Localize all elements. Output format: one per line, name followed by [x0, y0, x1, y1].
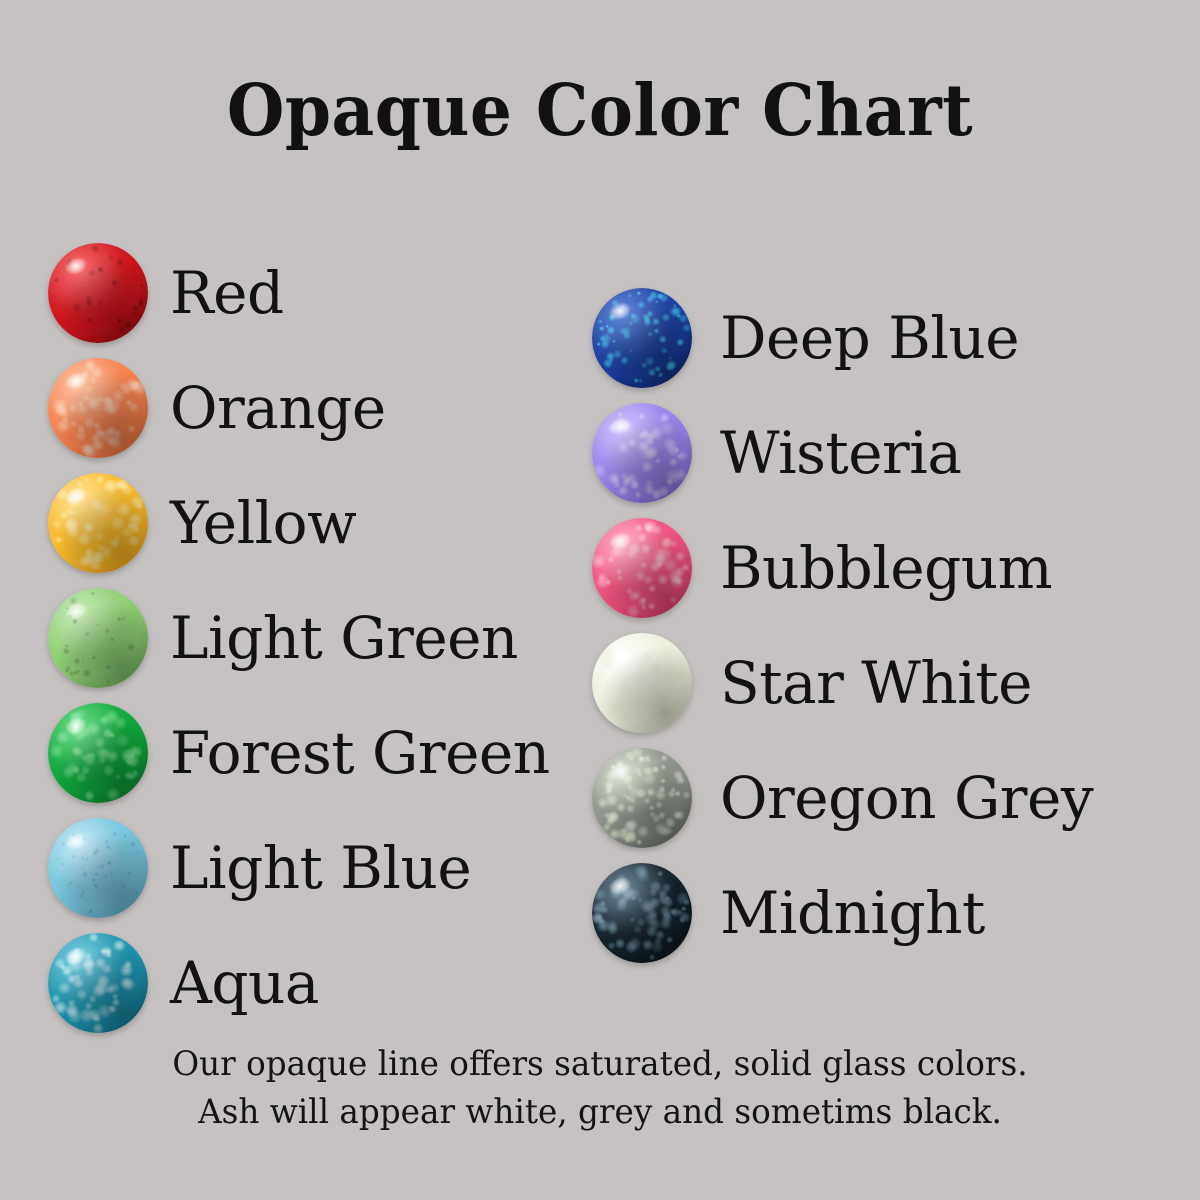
marble-swatch-oregon-grey[interactable]: [592, 748, 692, 848]
marble-shading: [48, 933, 148, 1033]
footer-line-1: Our opaque line offers saturated, solid …: [24, 1040, 1176, 1088]
glass-marble-icon: [592, 863, 692, 963]
glass-marble-icon: [592, 633, 692, 733]
page-title: Opaque Color Chart: [42, 68, 1158, 152]
swatch-row[interactable]: Orange: [48, 350, 550, 465]
marble-swatch-bubblegum[interactable]: [592, 518, 692, 618]
glass-marble-icon: [48, 588, 148, 688]
glass-marble-icon: [48, 243, 148, 343]
marble-shading: [48, 703, 148, 803]
swatch-row[interactable]: Deep Blue: [592, 280, 1093, 395]
swatch-row[interactable]: Red: [48, 235, 550, 350]
swatch-row[interactable]: Wisteria: [592, 395, 1093, 510]
swatch-label: Light Green: [170, 609, 518, 667]
swatch-label: Yellow: [170, 494, 356, 552]
marble-swatch-yellow[interactable]: [48, 473, 148, 573]
swatch-label: Oregon Grey: [720, 769, 1093, 827]
marble-shading: [48, 473, 148, 573]
marble-swatch-red[interactable]: [48, 243, 148, 343]
swatch-row[interactable]: Oregon Grey: [592, 740, 1093, 855]
swatch-label: Orange: [170, 379, 386, 437]
swatch-label: Deep Blue: [720, 309, 1019, 367]
marble-shading: [48, 358, 148, 458]
marble-shading: [48, 243, 148, 343]
marble-shading: [592, 633, 692, 733]
glass-marble-icon: [48, 818, 148, 918]
glass-marble-icon: [48, 473, 148, 573]
marble-swatch-wisteria[interactable]: [592, 403, 692, 503]
footer-note: Our opaque line offers saturated, solid …: [24, 1040, 1176, 1136]
marble-shading: [592, 518, 692, 618]
color-chart-page: Opaque Color Chart RedOrangeYellowLight …: [0, 0, 1200, 1200]
marble-shading: [592, 863, 692, 963]
glass-marble-icon: [48, 703, 148, 803]
swatch-label: Aqua: [170, 954, 319, 1012]
swatch-row[interactable]: Forest Green: [48, 695, 550, 810]
swatch-label: Light Blue: [170, 839, 471, 897]
swatch-row[interactable]: Aqua: [48, 925, 550, 1040]
swatch-column-right: Deep BlueWisteriaBubblegumStar WhiteOreg…: [592, 280, 1093, 970]
marble-swatch-light-blue[interactable]: [48, 818, 148, 918]
swatch-label: Wisteria: [720, 424, 961, 482]
glass-marble-icon: [592, 403, 692, 503]
swatch-row[interactable]: Star White: [592, 625, 1093, 740]
footer-line-2: Ash will appear white, grey and sometims…: [24, 1088, 1176, 1136]
marble-swatch-forest-green[interactable]: [48, 703, 148, 803]
swatch-label: Bubblegum: [720, 539, 1052, 597]
marble-swatch-aqua[interactable]: [48, 933, 148, 1033]
swatch-row[interactable]: Bubblegum: [592, 510, 1093, 625]
glass-marble-icon: [48, 933, 148, 1033]
swatch-row[interactable]: Light Blue: [48, 810, 550, 925]
swatch-label: Forest Green: [170, 724, 550, 782]
swatch-column-left: RedOrangeYellowLight GreenForest GreenLi…: [48, 235, 550, 1040]
glass-marble-icon: [592, 748, 692, 848]
marble-shading: [592, 748, 692, 848]
marble-swatch-orange[interactable]: [48, 358, 148, 458]
swatch-row[interactable]: Yellow: [48, 465, 550, 580]
glass-marble-icon: [592, 518, 692, 618]
swatch-row[interactable]: Light Green: [48, 580, 550, 695]
marble-shading: [592, 288, 692, 388]
swatch-label: Red: [170, 264, 284, 322]
marble-swatch-midnight[interactable]: [592, 863, 692, 963]
swatch-label: Star White: [720, 654, 1032, 712]
marble-swatch-light-green[interactable]: [48, 588, 148, 688]
marble-swatch-star-white[interactable]: [592, 633, 692, 733]
marble-swatch-deep-blue[interactable]: [592, 288, 692, 388]
marble-shading: [592, 403, 692, 503]
glass-marble-icon: [592, 288, 692, 388]
marble-shading: [48, 818, 148, 918]
marble-shading: [48, 588, 148, 688]
swatch-label: Midnight: [720, 884, 985, 942]
glass-marble-icon: [48, 358, 148, 458]
swatch-row[interactable]: Midnight: [592, 855, 1093, 970]
